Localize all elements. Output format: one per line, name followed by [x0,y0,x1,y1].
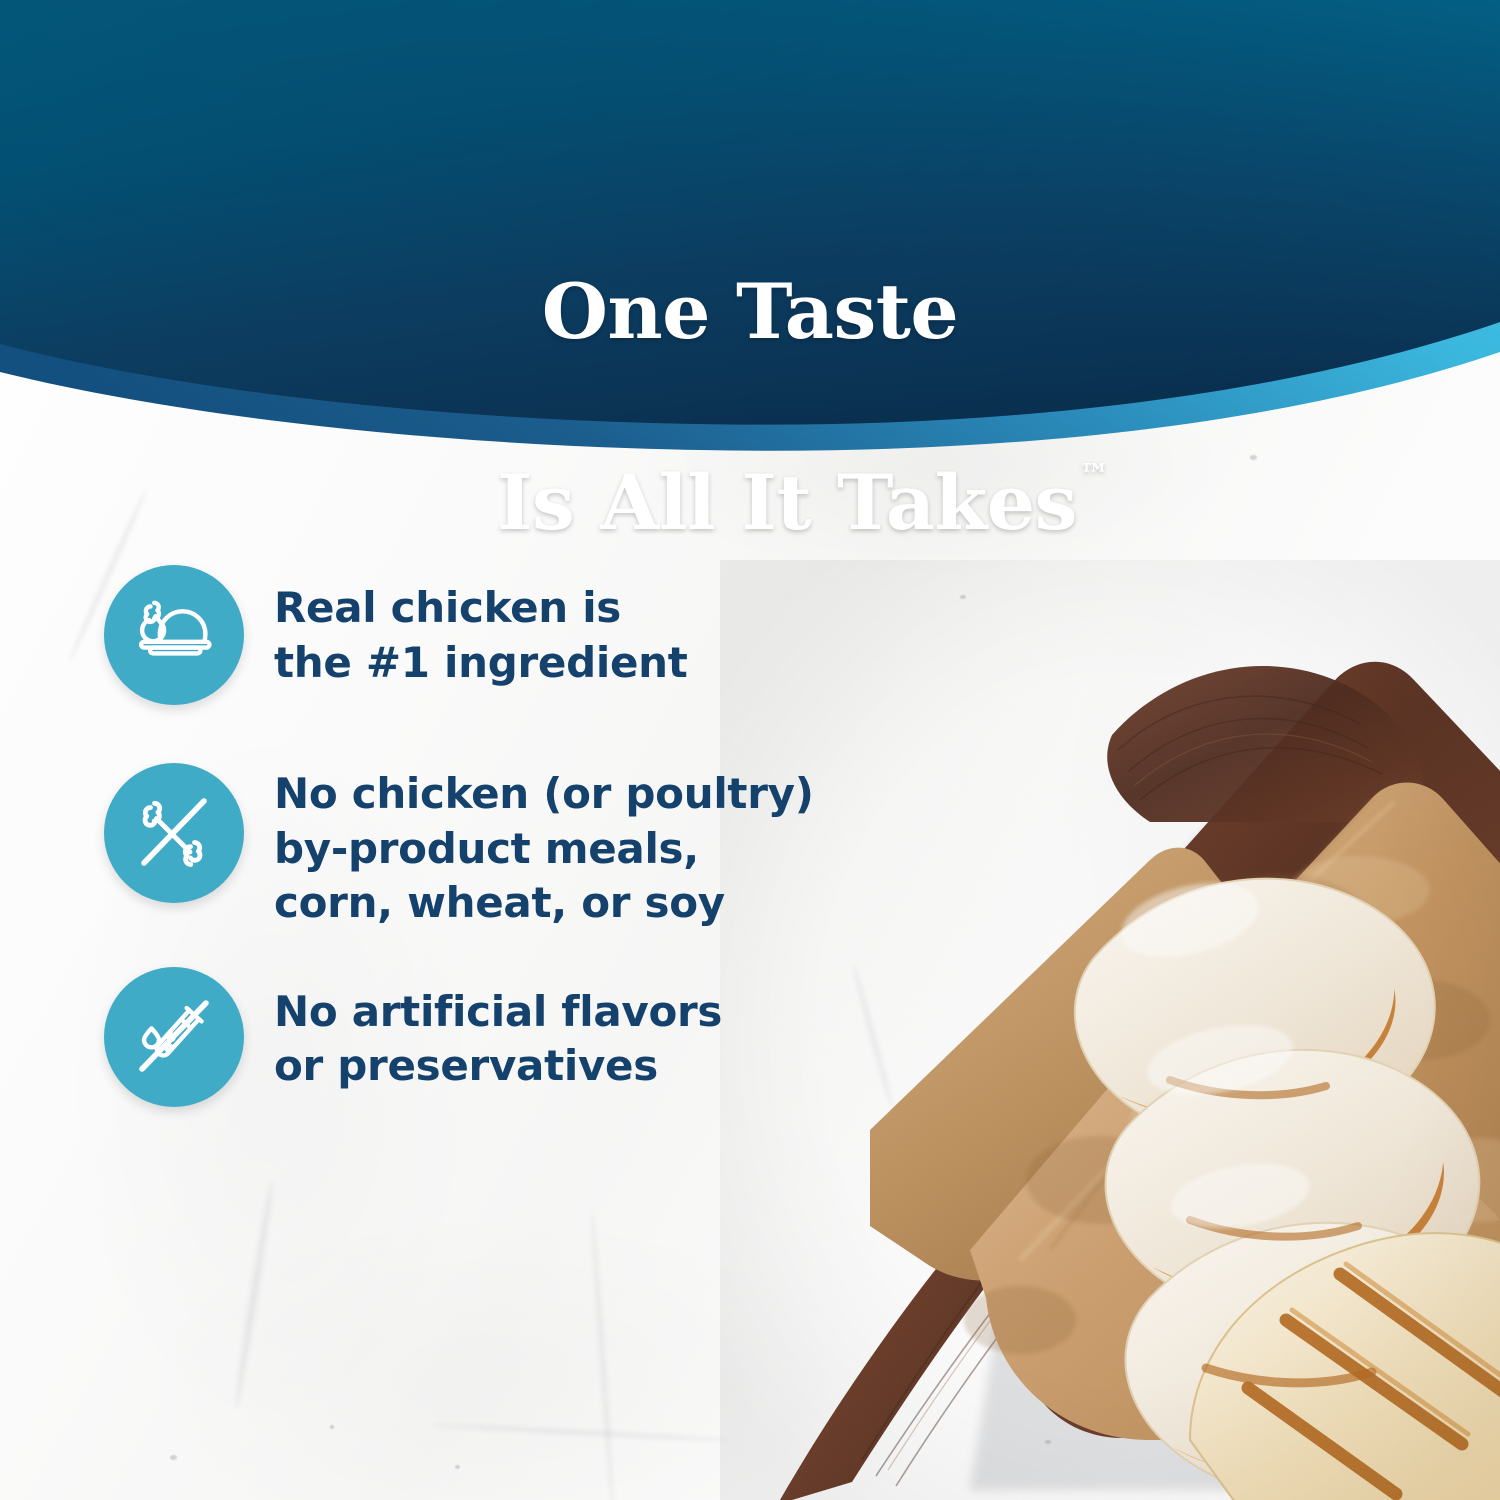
list-item: No chicken (or poultry) by-product meals… [104,763,884,931]
roast-chicken-platter-icon [104,565,244,705]
list-item: Real chicken is the #1 ingredient [104,565,884,705]
list-item-label: No chicken (or poultry) by-product meals… [274,763,814,931]
feature-list: Real chicken is the #1 ingredient No chi… [104,565,884,1107]
headline-line-1: One Taste [0,264,1500,360]
marble-fleck [170,1455,177,1460]
list-item-label: Real chicken is the #1 ingredient [274,565,688,690]
marble-fleck [330,1425,334,1429]
headline-line-2: Is All It Takes [497,458,1077,547]
page-title: One Taste Is All It Takes™ [0,72,1500,647]
marble-fleck [455,1465,460,1469]
no-bone-icon [104,763,244,903]
promo-card: One Taste Is All It Takes™ Real [0,0,1500,1500]
list-item-label: No artificial flavors or preservatives [274,967,722,1094]
no-test-tube-icon [104,967,244,1107]
trademark-symbol: ™ [1079,458,1109,493]
list-item: No artificial flavors or preservatives [104,967,884,1107]
